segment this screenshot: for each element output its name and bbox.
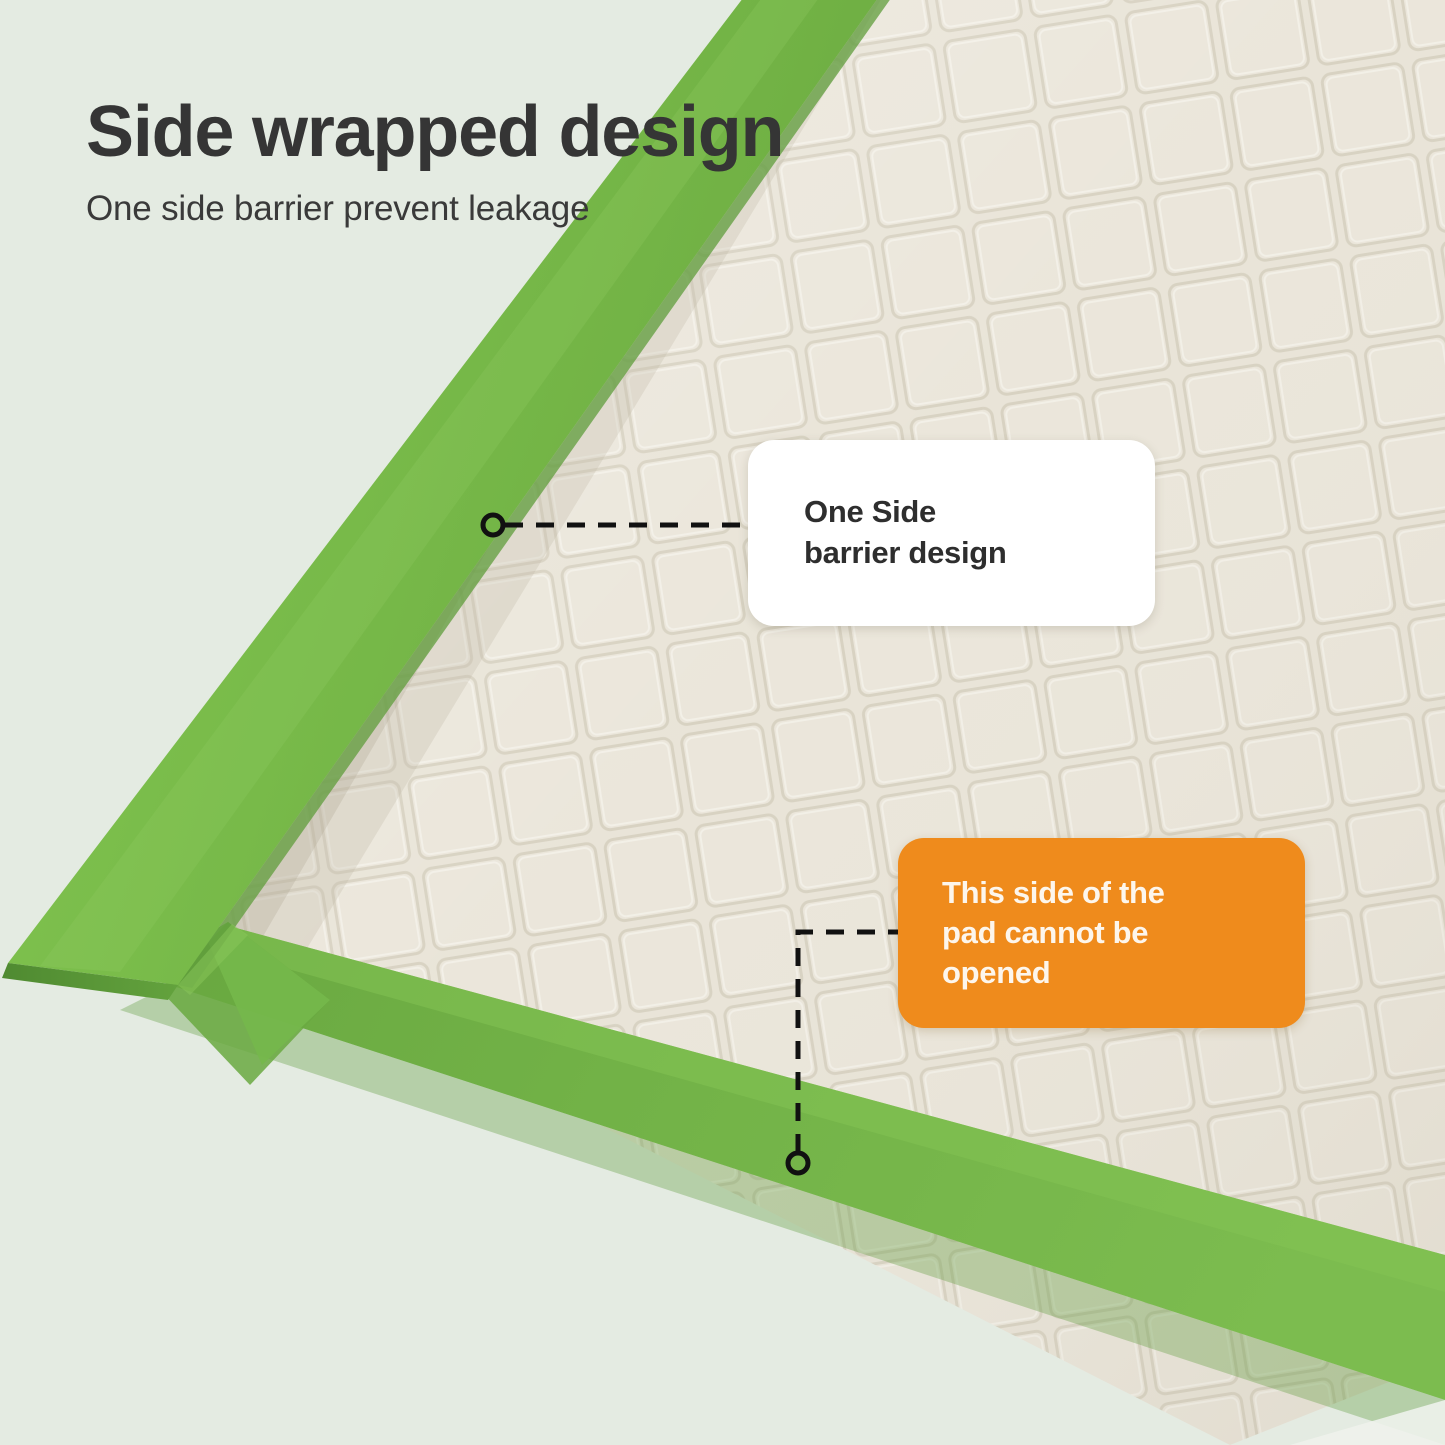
callout-line-3: opened — [942, 953, 1305, 993]
callout-leader-lines — [0, 0, 1445, 1445]
leader-marker-circle — [483, 515, 503, 535]
leader-cannot-be-opened — [788, 932, 898, 1173]
leader-marker-circle — [788, 1153, 808, 1173]
callout-line-2: barrier design — [804, 533, 1155, 574]
callout-one-side-barrier[interactable]: One Side barrier design — [748, 440, 1155, 626]
leader-one-side-barrier — [483, 515, 750, 535]
callout-line-2: pad cannot be — [942, 913, 1305, 953]
callout-line-1: This side of the — [942, 873, 1305, 913]
product-feature-image: Side wrapped design One side barrier pre… — [0, 0, 1445, 1445]
callout-line-1: One Side — [804, 492, 1155, 533]
callout-cannot-be-opened[interactable]: This side of the pad cannot be opened — [898, 838, 1305, 1028]
leader-dashed-path — [798, 932, 898, 1152]
